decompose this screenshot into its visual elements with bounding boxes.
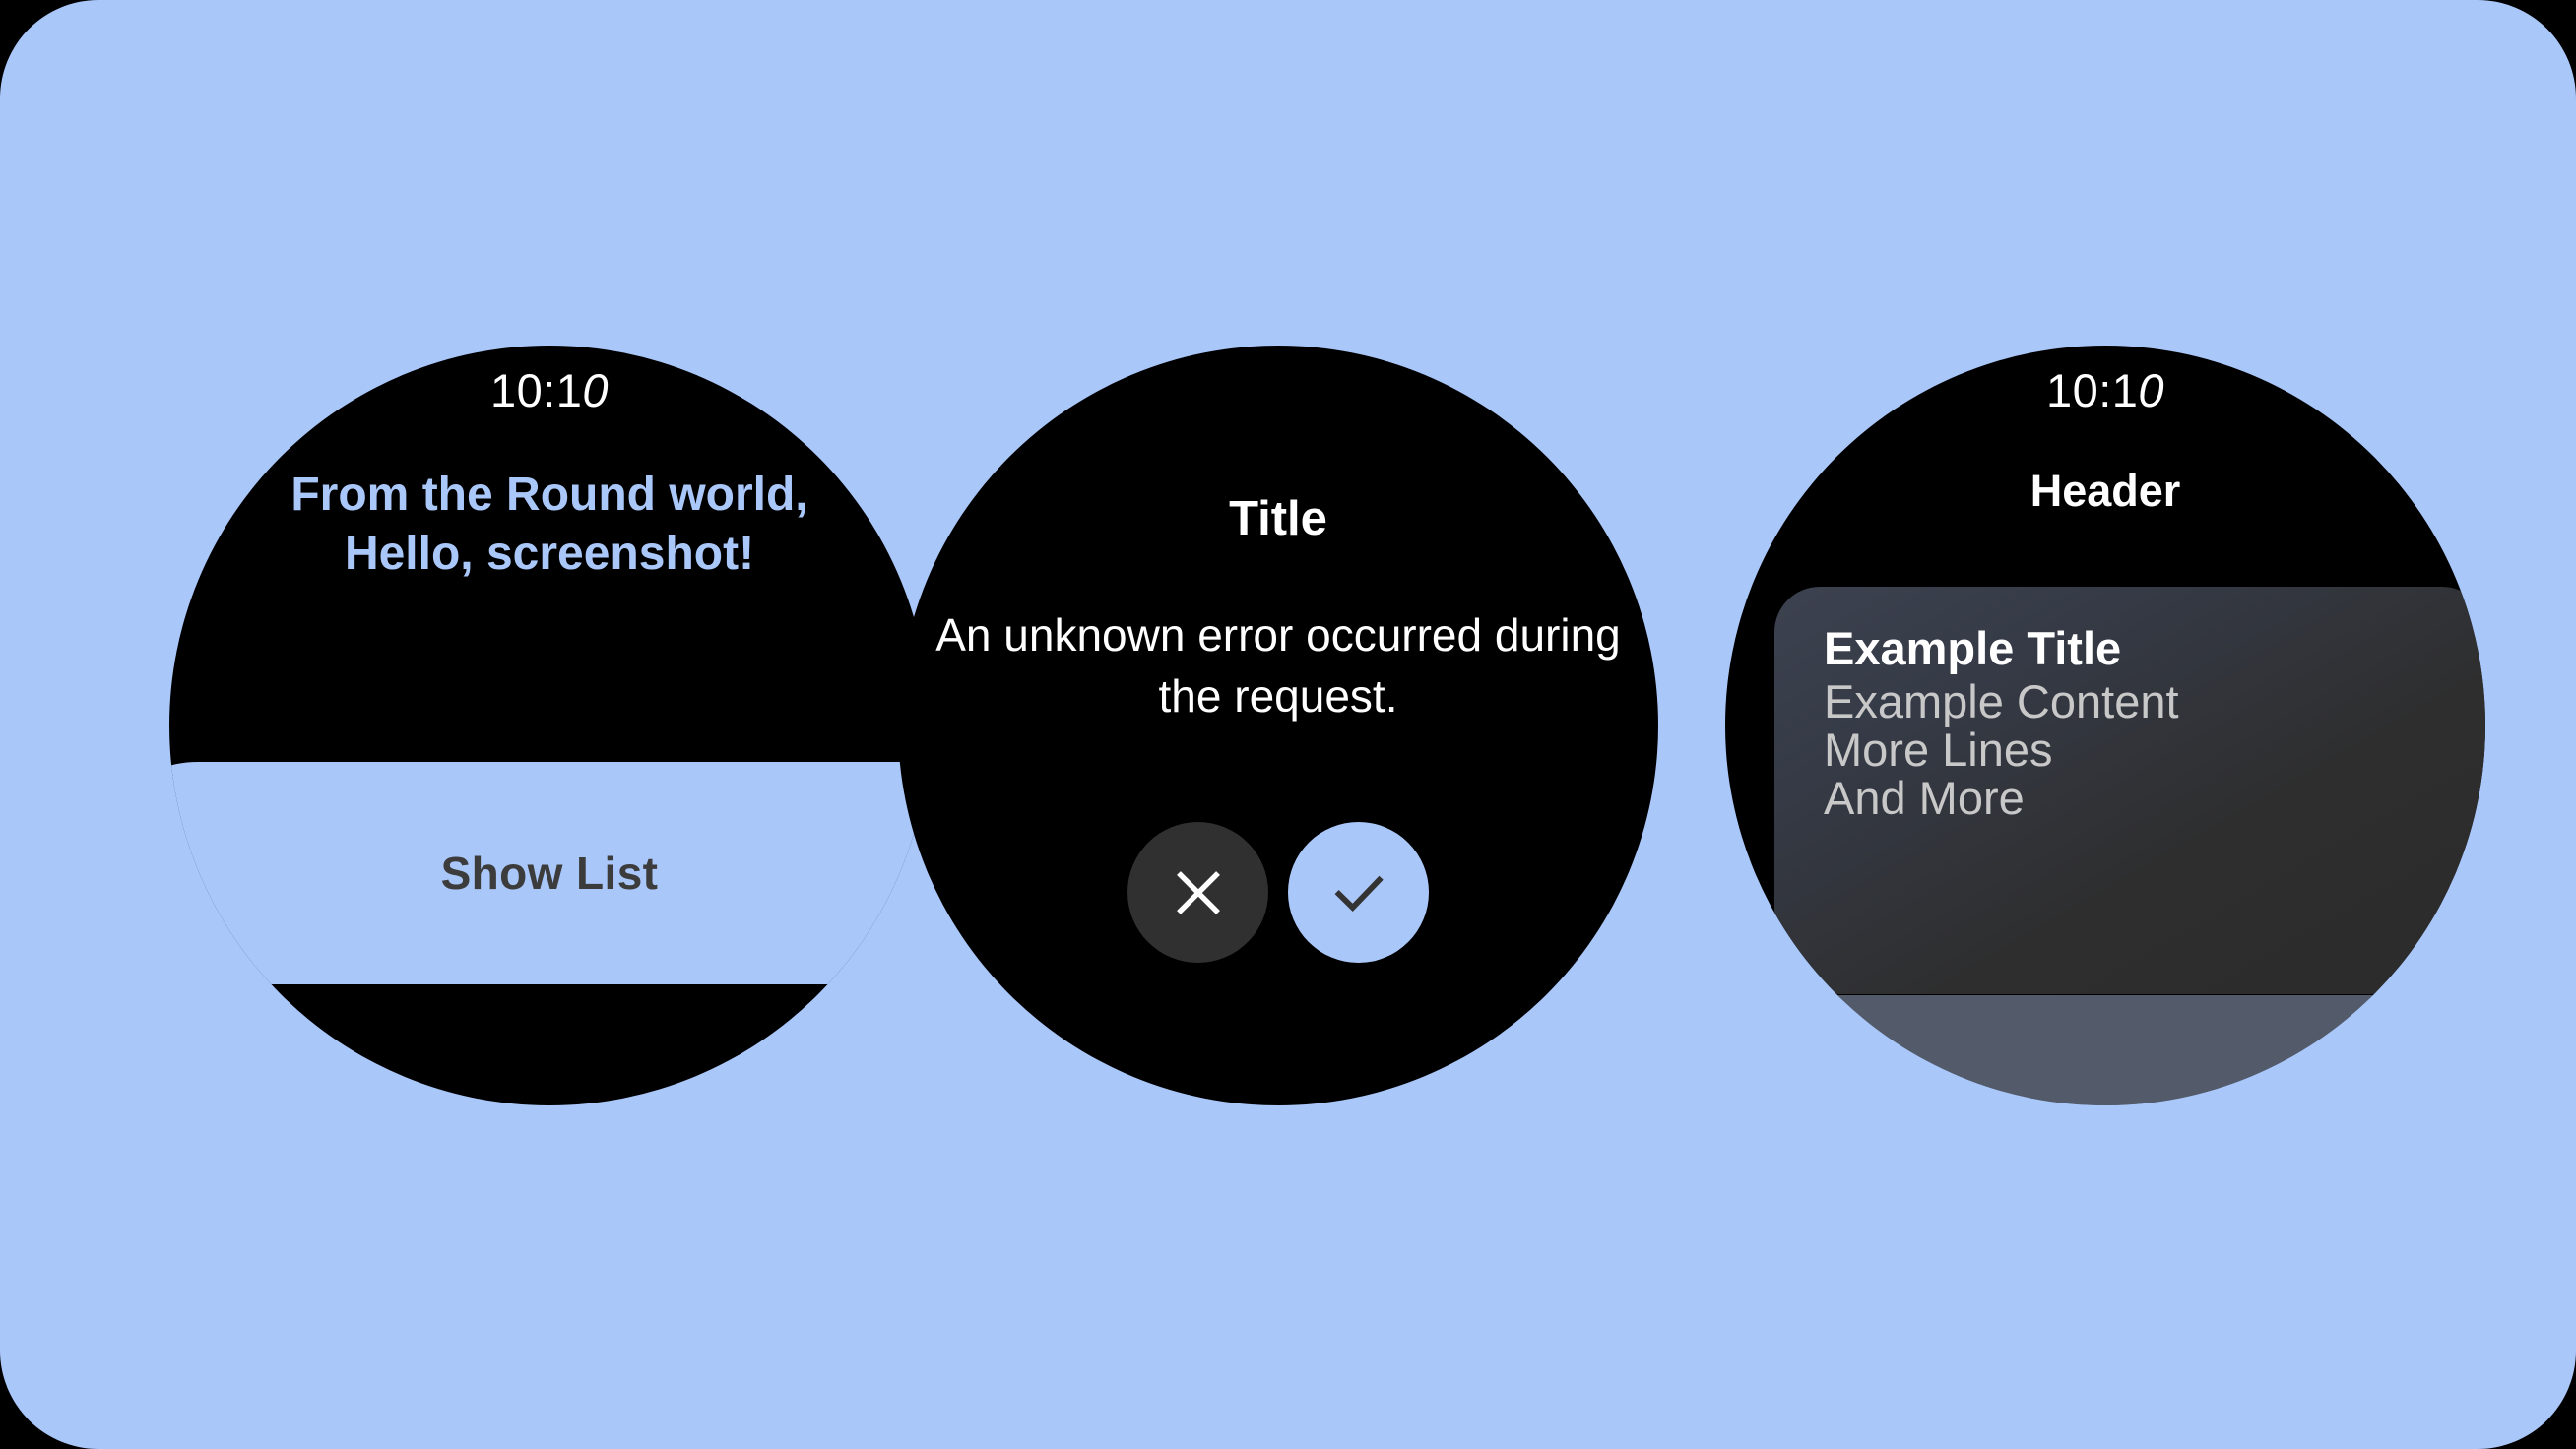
dialog-title: Title [898, 495, 1658, 543]
card-line-1: Example Content [1824, 678, 2485, 726]
bottom-scrim [1725, 995, 2485, 1105]
card-title: Example Title [1824, 625, 2485, 673]
status-time-tail-1: 0 [582, 364, 609, 416]
close-x-icon [1168, 862, 1229, 923]
status-time-1: 10:10 [169, 367, 930, 413]
card-line-2: More Lines [1824, 726, 2485, 775]
watch-screen-2: Title An unknown error occurred during t… [898, 346, 1658, 1105]
status-time-3: 10:10 [1725, 367, 2485, 413]
watch-screen-3: 10:10 Header Example Title Example Conte… [1725, 346, 2485, 1105]
dialog-message: An unknown error occurred during the req… [924, 604, 1633, 726]
dismiss-button[interactable] [1127, 822, 1268, 963]
status-time-head-1: 10:1 [490, 364, 582, 416]
watch-preview-greeting: 10:10 From the Round world, Hello, scree… [169, 346, 930, 1105]
check-icon [1326, 860, 1391, 925]
dialog-action-row [898, 822, 1658, 963]
watch-preview-alert-dialog: Title An unknown error occurred during t… [898, 346, 1658, 1105]
status-time-head-3: 10:1 [2046, 364, 2138, 416]
backdrop-surface: 10:10 From the Round world, Hello, scree… [0, 0, 2576, 1449]
card-line-3: And More [1824, 775, 2485, 823]
status-time-tail-3: 0 [2138, 364, 2164, 416]
greeting-text: From the Round world, Hello, screenshot! [215, 466, 884, 585]
content-card[interactable]: Example Title Example Content More Lines… [1774, 587, 2485, 994]
watch-screen-1: 10:10 From the Round world, Hello, scree… [169, 346, 930, 1105]
show-list-button[interactable]: Show List [169, 762, 930, 984]
watch-preview-card-list: 10:10 Header Example Title Example Conte… [1725, 346, 2485, 1105]
screenshot-canvas: 10:10 From the Round world, Hello, scree… [0, 0, 2576, 1449]
header-label: Header [1725, 469, 2485, 513]
confirm-button[interactable] [1288, 822, 1429, 963]
